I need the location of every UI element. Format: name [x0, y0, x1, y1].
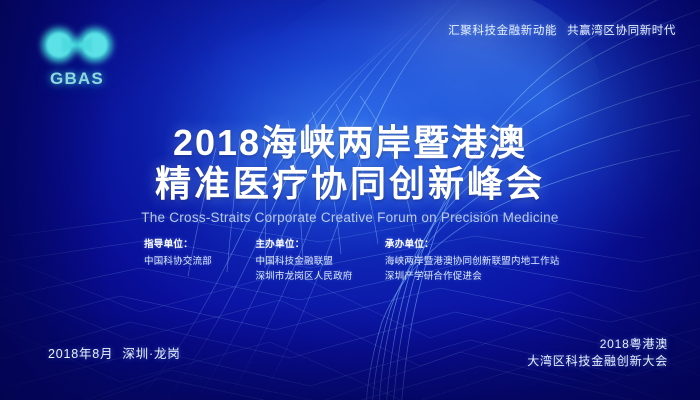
- footer-date-location: 2018年8月深圳·龙岗: [48, 343, 181, 362]
- footer-conference-line-1: 2018粤港澳: [527, 336, 668, 353]
- organizer-item: 中国科协交流部: [144, 255, 256, 270]
- organizer-item: 深圳产学研合作促进会: [385, 270, 584, 285]
- organizer-column-organizer: 承办单位： 海峡两岸暨港澳协同创新联盟内地工作站 深圳产学研合作促进会: [385, 236, 584, 284]
- title-line-2: 精准医疗协同创新峰会: [0, 163, 700, 204]
- organizer-column-guidance: 指导单位： 中国科协交流部: [144, 236, 256, 270]
- organizer-item: 深圳市龙岗区人民政府: [256, 270, 385, 285]
- footer-location: 深圳·龙岗: [122, 347, 180, 361]
- footer-conference-line-2: 大湾区科技金融创新大会: [527, 353, 668, 370]
- gbas-logo: GBAS: [32, 24, 122, 89]
- organizer-item: 海峡两岸暨港澳协同创新联盟内地工作站: [385, 255, 584, 270]
- organizer-heading: 指导单位：: [144, 236, 256, 250]
- gbas-bowtie-logo-icon: [32, 24, 122, 68]
- tagline-part2: 共赢湾区协同新时代: [567, 25, 676, 37]
- footer-date: 2018年8月: [48, 347, 113, 361]
- event-poster: GBAS 汇聚科技金融新动能共赢湾区协同新时代 2018海峡两岸暨港澳 精准医疗…: [0, 0, 700, 400]
- organizer-heading: 主办单位：: [256, 236, 385, 250]
- organizer-heading: 承办单位：: [385, 236, 584, 250]
- gbas-logo-text: GBAS: [32, 69, 122, 89]
- title-subtitle-english: The Cross-Straits Corporate Creative For…: [0, 210, 700, 225]
- tagline-part1: 汇聚科技金融新动能: [448, 25, 557, 37]
- title-line-1: 2018海峡两岸暨港澳: [0, 122, 700, 163]
- footer-conference-name: 2018粤港澳 大湾区科技金融创新大会: [527, 336, 668, 370]
- organizers-section: 指导单位： 中国科协交流部 主办单位： 中国科技金融联盟 深圳市龙岗区人民政府 …: [144, 236, 584, 284]
- organizer-column-host: 主办单位： 中国科技金融联盟 深圳市龙岗区人民政府: [256, 236, 385, 284]
- tagline: 汇聚科技金融新动能共赢湾区协同新时代: [448, 22, 676, 38]
- title-block: 2018海峡两岸暨港澳 精准医疗协同创新峰会 The Cross-Straits…: [0, 122, 700, 225]
- organizer-item: 中国科技金融联盟: [256, 255, 385, 270]
